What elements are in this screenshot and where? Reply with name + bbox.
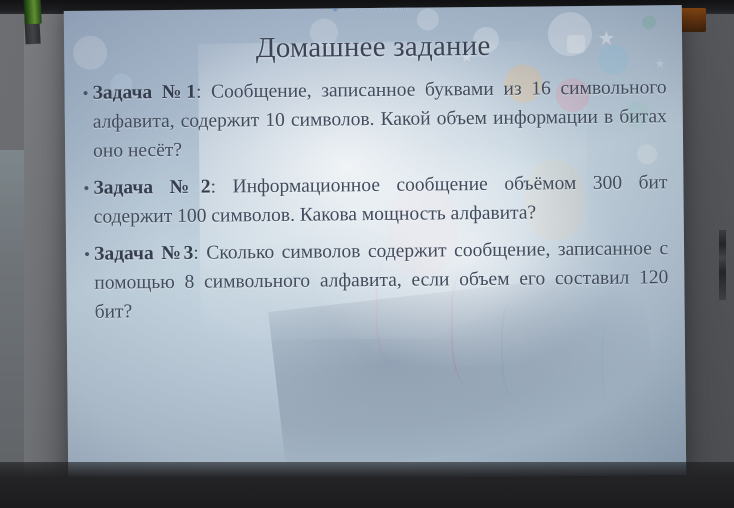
whiteboard-photo-scene: Interwrite DualBoard Домашнее задание • … [0,0,734,508]
marker-green-icon [23,0,42,24]
task-2-body: Задача №2: Информационное сообщение объё… [93,168,668,232]
pen-tray-right [719,230,726,300]
bullet-icon: • [79,174,93,204]
task-item-1: • Задача №1: Сообщение, записанное буква… [74,73,673,166]
projected-slide: Interwrite DualBoard Домашнее задание • … [64,5,686,481]
task-2-label: Задача №2 [93,176,210,198]
task-item-3: • Задача №3: Сколько символов содержит с… [76,234,675,327]
task-3-label: Задача №3 [94,243,193,265]
bullet-icon: • [78,79,92,109]
board-bottom-shadow [0,462,734,508]
task-item-2: • Задача №2: Информационное сообщение об… [75,168,674,232]
task-1-body: Задача №1: Сообщение, записанное буквами… [92,73,667,166]
page-title: Домашнее задание [74,29,672,67]
bullet-icon: • [80,240,94,270]
task-1-label: Задача №1 [92,82,196,104]
slide-content: Домашнее задание • Задача №1: Сообщение,… [64,5,686,481]
wall-left-lower [0,150,26,508]
task-3-body: Задача №3: Сколько символов содержит соо… [94,234,669,327]
